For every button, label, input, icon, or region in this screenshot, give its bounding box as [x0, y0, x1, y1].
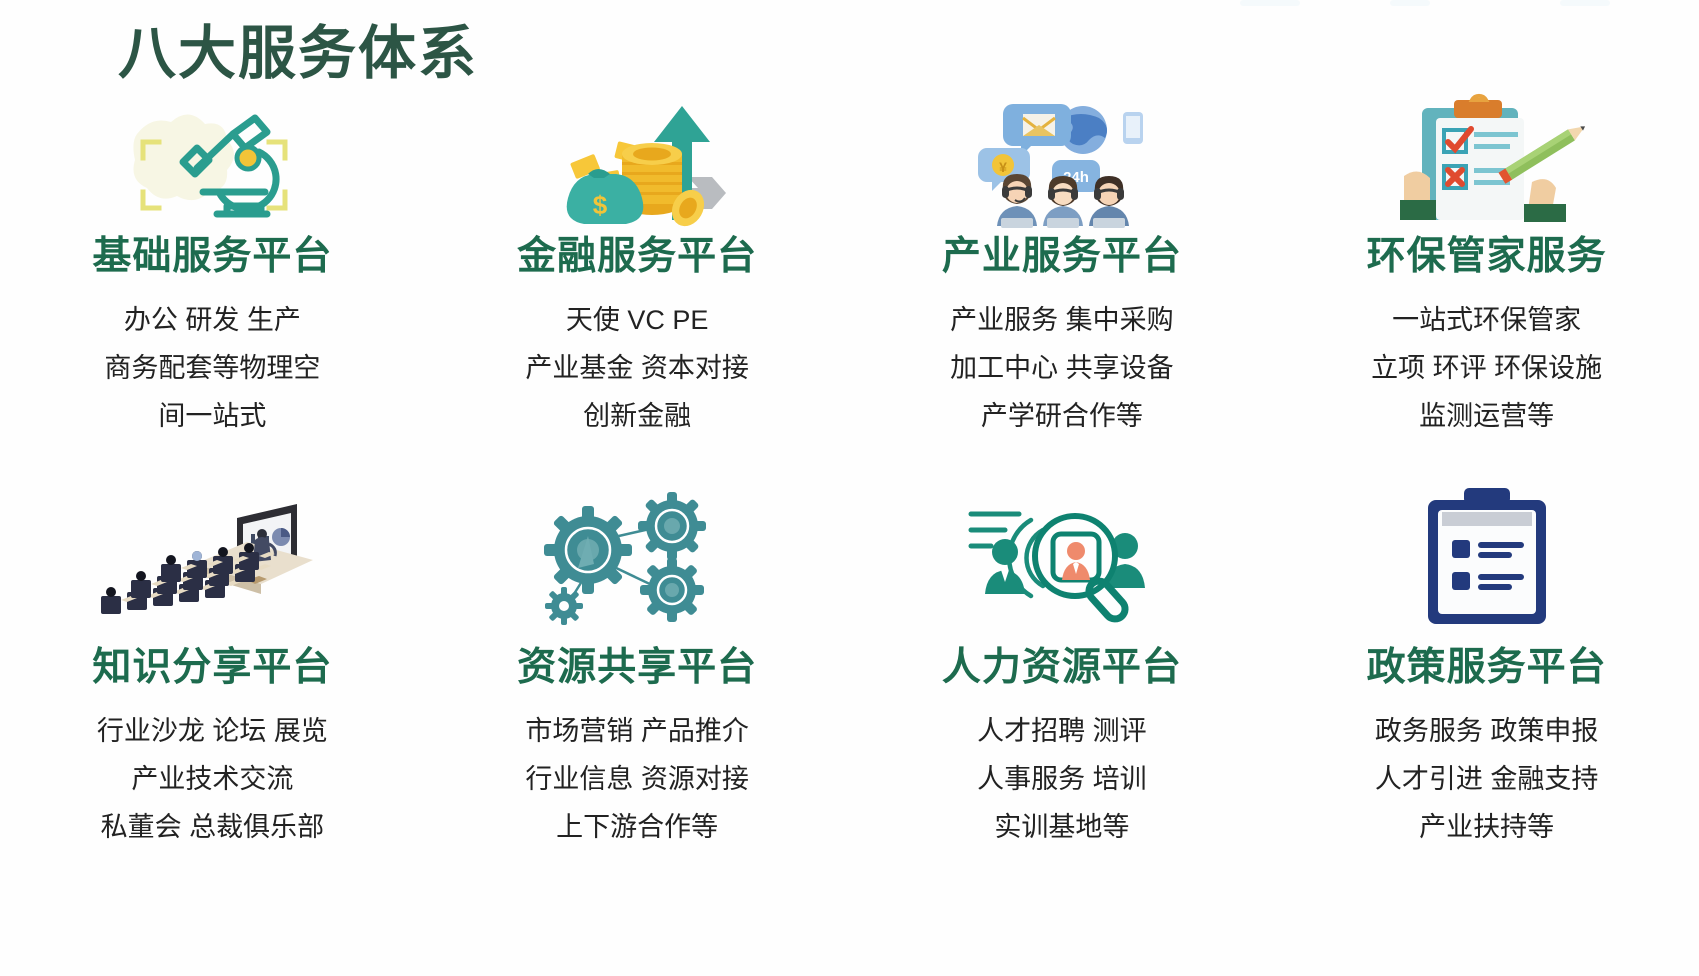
card-description-line: 天使 VC PE	[525, 296, 749, 344]
card-description-line: 产业扶持等	[1375, 803, 1599, 851]
service-card-resource-sharing: 资源共享平台 市场营销 产品推介 行业信息 资源对接 上下游合作等	[425, 486, 850, 866]
card-description-line: 人才引进 金融支持	[1375, 755, 1599, 803]
seminar-auditorium-icon	[107, 486, 317, 631]
service-card-environment-steward: 环保管家服务 一站式环保管家 立项 环评 环保设施 监测运营等	[1274, 96, 1699, 476]
card-description-line: 办公 研发 生产	[104, 296, 320, 344]
card-description-line: 政务服务 政策申报	[1375, 707, 1599, 755]
card-description-line: 行业沙龙 论坛 展览	[97, 707, 328, 755]
card-description-line: 产学研合作等	[950, 392, 1174, 440]
service-card-finance-platform: $ 金融服务平台 天使 VC PE 产业基金 资本对接 创新金融	[425, 96, 850, 476]
card-description-line: 人才招聘 测评	[977, 707, 1147, 755]
card-description: 天使 VC PE 产业基金 资本对接 创新金融	[525, 296, 749, 440]
card-title: 金融服务平台	[517, 234, 757, 280]
card-title: 环保管家服务	[1367, 234, 1607, 280]
card-description-line: 立项 环评 环保设施	[1371, 344, 1602, 392]
policy-clipboard-icon	[1382, 486, 1592, 631]
card-description-line: 产业基金 资本对接	[525, 344, 749, 392]
card-description: 市场营销 产品推介 行业信息 资源对接 上下游合作等	[525, 707, 749, 851]
card-description-line: 行业信息 资源对接	[525, 755, 749, 803]
card-description-line: 私董会 总裁俱乐部	[97, 803, 328, 851]
card-description-line: 人事服务 培训	[977, 755, 1147, 803]
top-edge-artifact	[1240, 0, 1300, 6]
card-description: 政务服务 政策申报 人才引进 金融支持 产业扶持等	[1375, 707, 1599, 851]
card-description: 一站式环保管家 立项 环评 环保设施 监测运营等	[1371, 296, 1602, 440]
card-description-line: 监测运营等	[1371, 392, 1602, 440]
card-description: 产业服务 集中采购 加工中心 共享设备 产学研合作等	[950, 296, 1174, 440]
service-card-human-resources: 人力资源平台 人才招聘 测评 人事服务 培训 实训基地等	[850, 486, 1275, 866]
card-title: 基础服务平台	[92, 234, 332, 280]
card-description: 行业沙龙 论坛 展览 产业技术交流 私董会 总裁俱乐部	[97, 707, 328, 851]
card-title: 政策服务平台	[1367, 645, 1607, 691]
money-bag-growth-icon: $	[532, 96, 742, 226]
card-description-line: 创新金融	[525, 392, 749, 440]
customer-service-agents-icon: ¥ 24h	[957, 96, 1167, 226]
service-card-grid: 基础服务平台 办公 研发 生产 商务配套等物理空 间一站式	[0, 96, 1699, 866]
card-description-line: 产业服务 集中采购	[950, 296, 1174, 344]
card-description: 人才招聘 测评 人事服务 培训 实训基地等	[977, 707, 1147, 851]
service-system-infographic: 八大服务体系	[0, 0, 1699, 976]
magnifier-people-search-icon	[957, 486, 1167, 631]
card-title: 产业服务平台	[942, 234, 1182, 280]
card-description-line: 商务配套等物理空	[104, 344, 320, 392]
card-description: 办公 研发 生产 商务配套等物理空 间一站式	[104, 296, 320, 440]
svg-text:$: $	[593, 190, 608, 220]
gears-network-icon	[532, 486, 742, 631]
service-card-knowledge-sharing: 知识分享平台 行业沙龙 论坛 展览 产业技术交流 私董会 总裁俱乐部	[0, 486, 425, 866]
service-card-policy-platform: 政策服务平台 政务服务 政策申报 人才引进 金融支持 产业扶持等	[1274, 486, 1699, 866]
top-edge-artifact	[1560, 0, 1610, 6]
card-description-line: 加工中心 共享设备	[950, 344, 1174, 392]
top-edge-artifact	[1390, 0, 1430, 6]
card-title: 人力资源平台	[942, 645, 1182, 691]
service-card-basic-platform: 基础服务平台 办公 研发 生产 商务配套等物理空 间一站式	[0, 96, 425, 476]
microscope-icon	[107, 96, 317, 226]
card-description-line: 产业技术交流	[97, 755, 328, 803]
page-title: 八大服务体系	[118, 22, 478, 86]
clipboard-checklist-hand-icon	[1382, 96, 1592, 226]
service-card-industry-platform: ¥ 24h	[850, 96, 1275, 476]
svg-text:¥: ¥	[999, 159, 1007, 175]
card-description-line: 市场营销 产品推介	[525, 707, 749, 755]
card-description-line: 间一站式	[104, 392, 320, 440]
card-description-line: 上下游合作等	[525, 803, 749, 851]
card-description-line: 实训基地等	[977, 803, 1147, 851]
card-title: 知识分享平台	[92, 645, 332, 691]
card-title: 资源共享平台	[517, 645, 757, 691]
card-description-line: 一站式环保管家	[1371, 296, 1602, 344]
